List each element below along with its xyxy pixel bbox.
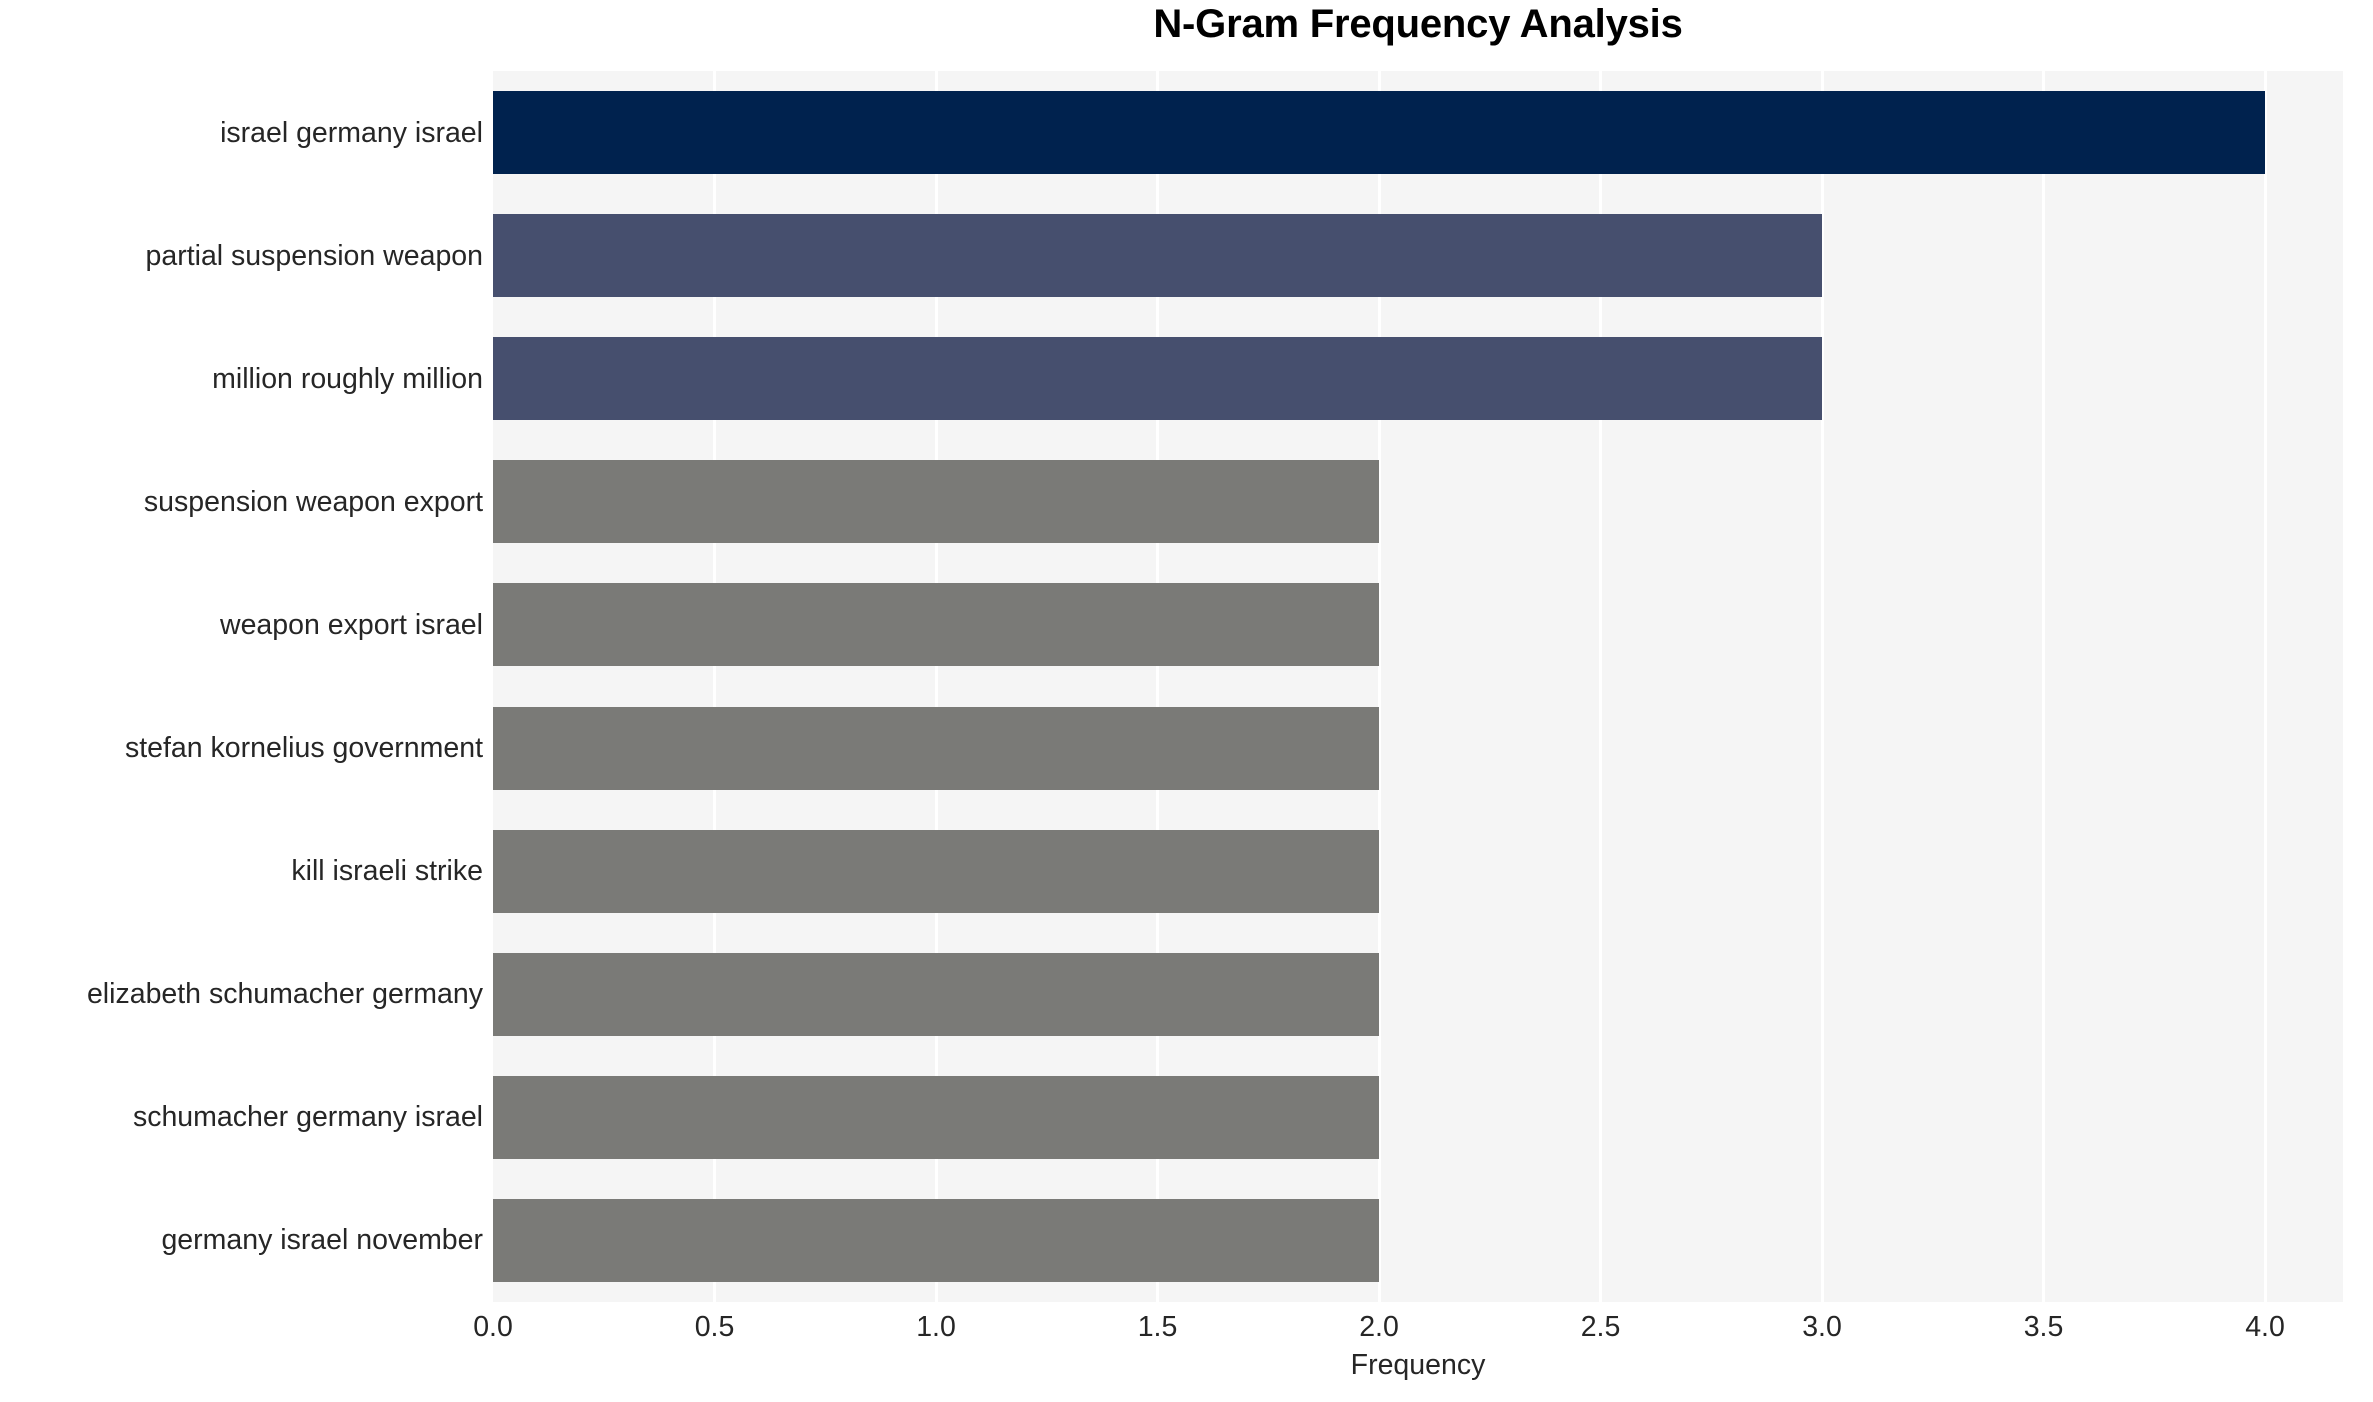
bar[interactable] bbox=[493, 830, 1379, 913]
bar-row bbox=[493, 194, 2343, 317]
y-axis-tick-label: kill israeli strike bbox=[0, 856, 483, 886]
x-axis-tick-label: 3.5 bbox=[1984, 1310, 2104, 1344]
bar[interactable] bbox=[493, 953, 1379, 1036]
y-axis-tick-label: partial suspension weapon bbox=[0, 241, 483, 271]
bar-row bbox=[493, 317, 2343, 440]
bar[interactable] bbox=[493, 337, 1822, 420]
y-axis-tick-label: germany israel november bbox=[0, 1225, 483, 1255]
x-axis-tick-label: 3.0 bbox=[1762, 1310, 1882, 1344]
bar[interactable] bbox=[493, 91, 2265, 174]
x-axis-tick-label: 1.5 bbox=[1098, 1310, 1218, 1344]
bars-layer bbox=[493, 71, 2343, 1302]
x-axis-tick-label: 0.0 bbox=[433, 1310, 553, 1344]
x-axis-title: Frequency bbox=[493, 1348, 2343, 1382]
plot-area bbox=[493, 71, 2343, 1302]
y-axis-tick-label: israel germany israel bbox=[0, 118, 483, 148]
x-axis-tick-label: 2.5 bbox=[1541, 1310, 1661, 1344]
y-axis-labels: israel germany israelpartial suspension … bbox=[0, 71, 483, 1302]
y-axis-tick-label: schumacher germany israel bbox=[0, 1102, 483, 1132]
x-axis-tick-label: 4.0 bbox=[2205, 1310, 2325, 1344]
bar[interactable] bbox=[493, 1076, 1379, 1159]
y-axis-tick-label: elizabeth schumacher germany bbox=[0, 979, 483, 1009]
bar-row bbox=[493, 810, 2343, 933]
y-axis-tick-label: suspension weapon export bbox=[0, 487, 483, 517]
y-axis-tick-label: million roughly million bbox=[0, 364, 483, 394]
bar-row bbox=[493, 933, 2343, 1056]
x-axis-tick-label: 0.5 bbox=[655, 1310, 775, 1344]
y-axis-tick-label: stefan kornelius government bbox=[0, 733, 483, 763]
y-axis-tick-label: weapon export israel bbox=[0, 610, 483, 640]
bar-row bbox=[493, 563, 2343, 686]
bar[interactable] bbox=[493, 583, 1379, 666]
bar[interactable] bbox=[493, 707, 1379, 790]
chart-title: N-Gram Frequency Analysis bbox=[493, 2, 2343, 46]
ngram-frequency-chart: N-Gram Frequency Analysis israel germany… bbox=[0, 0, 2373, 1402]
bar[interactable] bbox=[493, 1199, 1379, 1282]
bar-row bbox=[493, 1179, 2343, 1302]
bar-row bbox=[493, 687, 2343, 810]
x-axis-tick-label: 2.0 bbox=[1319, 1310, 1439, 1344]
bar[interactable] bbox=[493, 460, 1379, 543]
bar[interactable] bbox=[493, 214, 1822, 297]
bar-row bbox=[493, 1056, 2343, 1179]
x-axis-tick-label: 1.0 bbox=[876, 1310, 996, 1344]
bar-row bbox=[493, 440, 2343, 563]
bar-row bbox=[493, 71, 2343, 194]
